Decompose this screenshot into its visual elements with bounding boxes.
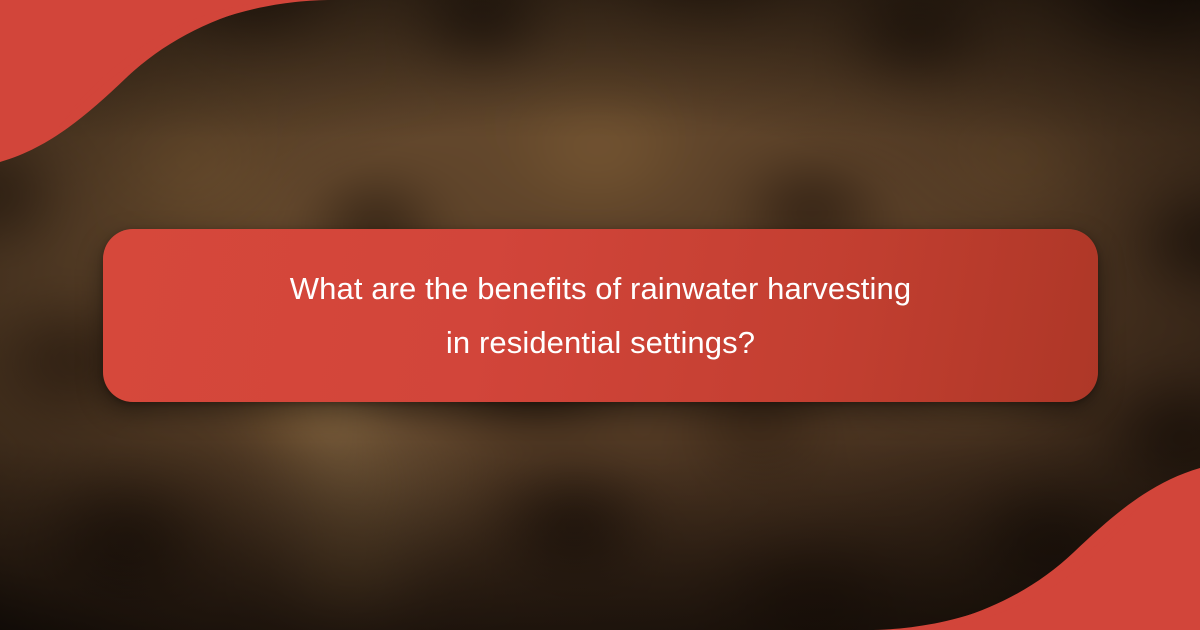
question-card[interactable]: What are the benefits of rainwater harve… [103,229,1098,402]
corner-wave-shape [0,0,300,162]
corner-wave-shape [900,468,1200,630]
question-card-canvas: What are the benefits of rainwater harve… [0,0,1200,630]
question-text: What are the benefits of rainwater harve… [290,262,911,369]
